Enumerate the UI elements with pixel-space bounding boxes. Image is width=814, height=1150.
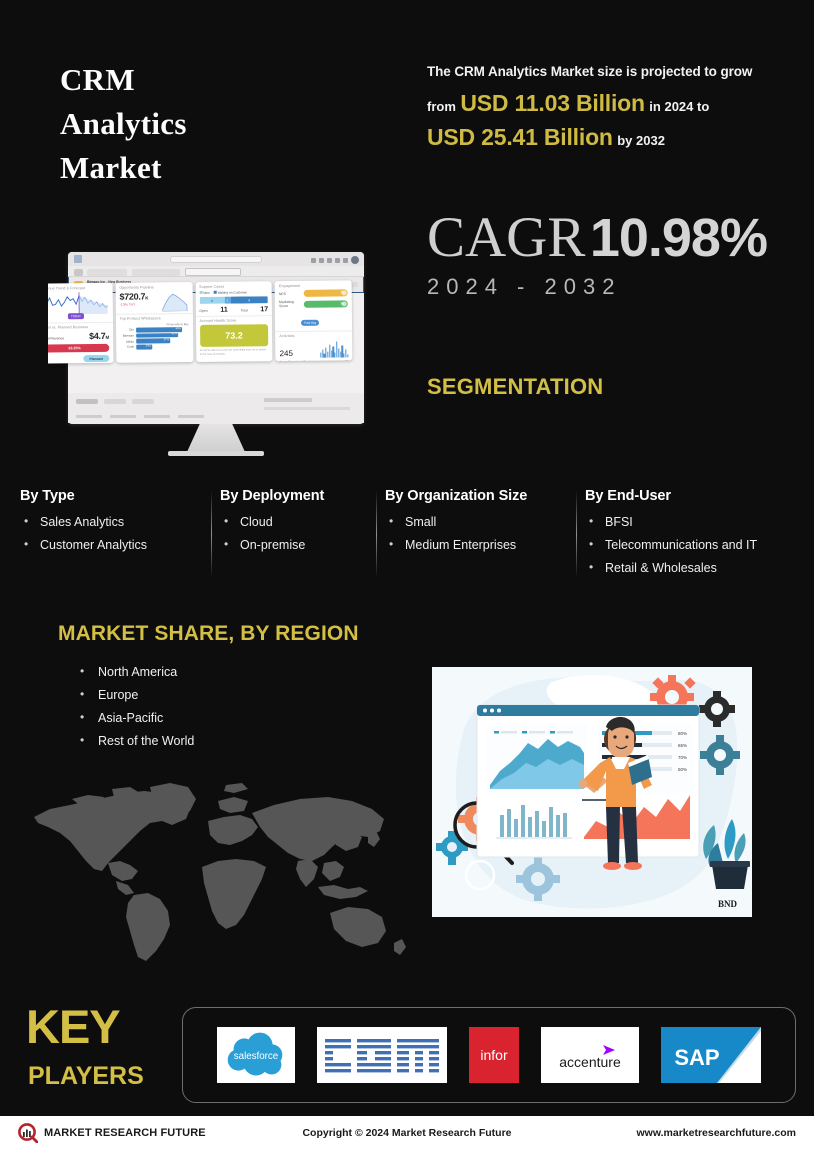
product-name: Qin: [120, 328, 134, 332]
segment-column-title: By Organization Size: [385, 488, 571, 504]
actual-revenue-label: Actual Revenue: [48, 336, 64, 340]
legend-new: New: [199, 291, 209, 295]
card-engagement: Engagement NPS 78 Marketing Score 36 Pas…: [275, 280, 353, 361]
dashboard-footer-panel: [68, 393, 364, 423]
card-title: Support Cases: [199, 284, 268, 289]
market-size-summary: The CRM Analytics Market size is project…: [427, 62, 802, 154]
product-name: Akiiko: [120, 339, 134, 343]
logo-infor: infor: [469, 1027, 519, 1083]
infor-wordmark-icon: infor: [469, 1027, 519, 1083]
segmentation-columns: By Type Sales Analytics Customer Analyti…: [20, 488, 800, 584]
app-topbar: [68, 252, 364, 266]
bell-icon: [319, 258, 324, 263]
card-title: Engagement: [279, 283, 348, 288]
segment-item: On-premise: [220, 538, 371, 552]
support-kpis: Open 11 Total 17: [199, 306, 268, 314]
tab-home: [74, 269, 83, 276]
segment-column-title: By Deployment: [220, 488, 371, 504]
analytics-illustration: 80% 65% 70% 50%: [432, 667, 752, 917]
gauge-label: NPS: [279, 291, 301, 295]
footer-links: [76, 415, 204, 418]
product-bar: 37%: [136, 339, 170, 344]
grid-icon: [311, 258, 316, 263]
page-title: CRM Analytics Market: [60, 58, 390, 190]
support-segments: 4 1 6: [199, 296, 268, 304]
segment-item: Telecommunications and IT: [585, 538, 786, 552]
value-2032: USD 25.41 Billion: [427, 124, 613, 150]
product-row: Cook 33%: [120, 344, 189, 349]
topbar-icons: [311, 256, 359, 264]
legend-waiting: Waiting on Customer: [214, 290, 248, 294]
market-research-future-logo-icon: [18, 1123, 38, 1143]
logo-accenture: accenture: [541, 1027, 639, 1083]
gear-icon: [335, 258, 340, 263]
revenue-line-chart: [48, 292, 109, 315]
pipeline-area-chart: [160, 291, 188, 311]
page-title-line-2: Analytics: [60, 102, 390, 146]
planned-badge: Planned: [83, 355, 109, 362]
key-players-logo-row: salesforce: [183, 1008, 795, 1102]
sap-wordmark: SAP: [674, 1045, 719, 1070]
activities-sparkline: [320, 339, 348, 357]
segment-item: Medium Enterprises: [385, 538, 571, 552]
actual-progress-bar: 63.25%: [48, 344, 109, 353]
product-row: Beeman 41%: [120, 333, 189, 338]
segment-column-title: By End-User: [585, 488, 786, 504]
footer-brand: MARKET RESEARCH FUTURE: [18, 1123, 206, 1143]
market-share-region-list: North America Europe Asia-Pacific Rest o…: [78, 665, 194, 757]
in-2024-label: in 2024 to: [649, 99, 709, 114]
segment-item: Sales Analytics: [20, 515, 206, 529]
market-share-heading: MARKET SHARE, BY REGION: [58, 622, 359, 646]
health-score-note: Accounts with this score are more likely…: [200, 348, 269, 356]
gauge-knob: [342, 290, 347, 295]
card-support-cases: Support Cases New Waiting on Customer 4 …: [195, 281, 273, 362]
open-label: Open: [199, 309, 207, 313]
sap-wordmark-icon: SAP: [661, 1027, 761, 1083]
card-revenue-trend: Revenue Trend & Forecast TODAY Actual vs…: [48, 283, 113, 364]
product-name: Cook: [120, 345, 134, 349]
product-bar: 33%: [136, 345, 152, 350]
actual-revenue-value: $4.7M: [89, 331, 109, 341]
activities-count: 245: [280, 349, 293, 358]
world-map-graphic: [12, 775, 422, 975]
pipeline-change: -13% YoY: [120, 302, 149, 306]
card-title: Opportunity Pipeline: [119, 285, 188, 290]
card-title: Actual vs. Planned Business: [48, 325, 109, 330]
dashboard-monitor-image: Bimago Inc - New Business Revenue Trend …: [48, 248, 384, 458]
recommended-actions-panel: [264, 398, 354, 410]
gauge-knob: [342, 301, 347, 306]
avatar: [351, 256, 359, 264]
monitor-neck: [187, 424, 245, 452]
card-title: Account Health Score: [199, 318, 268, 323]
market-size-2032-line: USD 25.41 Billion by 2032: [427, 124, 802, 154]
footer-brand-text: MARKET RESEARCH FUTURE: [44, 1127, 206, 1139]
column-divider: [576, 490, 577, 578]
region-item: Europe: [78, 688, 194, 702]
card-title: Activities: [279, 333, 348, 338]
svg-text:70%: 70%: [678, 755, 687, 760]
footer-tabs: [76, 399, 154, 404]
svg-text:80%: 80%: [678, 731, 687, 736]
open-value: 11: [220, 307, 227, 314]
card-title: Top Product Whitespace: [120, 316, 189, 321]
region-item: Asia-Pacific: [78, 711, 194, 725]
product-name: Beeman: [120, 334, 134, 338]
column-divider: [211, 490, 212, 578]
card-opportunity-pipeline: Opportunity Pipeline $720.7K -13% YoY To…: [115, 282, 193, 363]
total-label: Total: [240, 308, 247, 312]
gauge-label: Marketing Score: [279, 300, 301, 308]
segment-new: 4: [199, 297, 224, 304]
past-avg-badge: Past Avg: [301, 320, 319, 326]
infor-wordmark: infor: [480, 1047, 508, 1063]
segment-item: Customer Analytics: [20, 538, 206, 552]
card-title: Revenue Trend & Forecast: [48, 286, 108, 291]
cagr-period: 2024 - 2032: [427, 274, 767, 300]
health-score-value: 73.2: [200, 324, 269, 347]
logo-salesforce: salesforce: [217, 1027, 295, 1083]
market-size-intro: The CRM Analytics Market size is project…: [427, 62, 802, 81]
illustration-watermark: BND: [718, 899, 738, 909]
segment-item: BFSI: [585, 515, 786, 529]
world-map-svg: [12, 775, 422, 975]
region-item: Rest of the World: [78, 734, 194, 748]
app-logo-icon: [74, 255, 82, 263]
tab-secondary: [132, 269, 180, 276]
accenture-wordmark-icon: accenture: [541, 1027, 639, 1083]
support-legend: New Waiting on Customer: [199, 290, 268, 295]
app-tabbar: [68, 266, 364, 277]
page-footer: MARKET RESEARCH FUTURE Copyright © 2024 …: [0, 1116, 814, 1150]
key-players-box: salesforce: [182, 1007, 796, 1103]
region-item: North America: [78, 665, 194, 679]
by-2032-label: by 2032: [617, 133, 665, 148]
page-title-line-3: Market: [60, 146, 390, 190]
total-value: 17: [260, 306, 268, 313]
cagr-block: CAGR 10.98% 2024 - 2032: [427, 205, 767, 300]
cagr-line: CAGR 10.98%: [427, 205, 767, 270]
svg-text:65%: 65%: [678, 743, 687, 748]
help-icon: [327, 258, 332, 263]
cagr-label: CAGR: [427, 206, 585, 269]
monitor-base: [168, 451, 264, 456]
market-size-2024-line: from USD 11.03 Billion in 2024 to: [427, 90, 802, 120]
product-bar: 41%: [136, 333, 178, 338]
gauge-nps: NPS 78: [279, 289, 348, 297]
footer-copyright: Copyright © 2024 Market Research Future: [302, 1127, 511, 1139]
segment-item: Retail & Wholesales: [585, 561, 786, 575]
segment-column-by-type: By Type Sales Analytics Customer Analyti…: [20, 488, 220, 584]
tab-active: [185, 268, 241, 276]
gauge-bar: 78: [304, 289, 348, 296]
search-input: [170, 256, 262, 263]
gauge-bar: 36: [304, 300, 348, 307]
cagr-value: 10.98%: [590, 208, 767, 268]
key-players-key-label: KEY: [26, 1003, 120, 1050]
product-row: Qin 46%: [120, 327, 189, 332]
from-label: from: [427, 99, 456, 114]
dashboard-cards: Revenue Trend & Forecast TODAY Actual vs…: [48, 280, 352, 363]
key-players-players-label: PLAYERS: [28, 1062, 144, 1091]
segment-column-by-deployment: By Deployment Cloud On-premise: [220, 488, 385, 584]
salesforce-cloud-icon: salesforce: [217, 1027, 295, 1083]
page-title-line-1: CRM: [60, 58, 390, 102]
today-badge: TODAY: [68, 313, 84, 319]
value-2024: USD 11.03 Billion: [460, 90, 645, 116]
ibm-wordmark-icon: [317, 1027, 447, 1083]
product-row: Akiiko 37%: [120, 338, 189, 343]
logo-ibm: [317, 1027, 447, 1083]
accenture-wordmark: accenture: [559, 1054, 621, 1070]
footer-url[interactable]: www.marketresearchfuture.com: [636, 1127, 796, 1139]
gauge-marketing-score: Marketing Score 36: [279, 299, 348, 308]
segment-column-by-organization-size: By Organization Size Small Medium Enterp…: [385, 488, 585, 584]
svg-text:50%: 50%: [678, 767, 687, 772]
segment-column-title: By Type: [20, 488, 206, 504]
plus-icon: [343, 258, 348, 263]
tab-sales-console: [87, 269, 127, 276]
illustration-svg: 80% 65% 70% 50%: [432, 667, 752, 917]
logo-sap: SAP: [661, 1027, 761, 1083]
segment-column-by-end-user: By End-User BFSI Telecommunications and …: [585, 488, 800, 584]
pipeline-amount: $720.7K: [119, 291, 148, 301]
segment-item: Small: [385, 515, 571, 529]
activities-row: 245: [279, 339, 348, 358]
segmentation-heading: SEGMENTATION: [427, 374, 603, 400]
segment-waiting: 6: [230, 296, 268, 303]
salesforce-wordmark: salesforce: [234, 1051, 278, 1062]
column-divider: [376, 490, 377, 578]
segment-item: Cloud: [220, 515, 371, 529]
